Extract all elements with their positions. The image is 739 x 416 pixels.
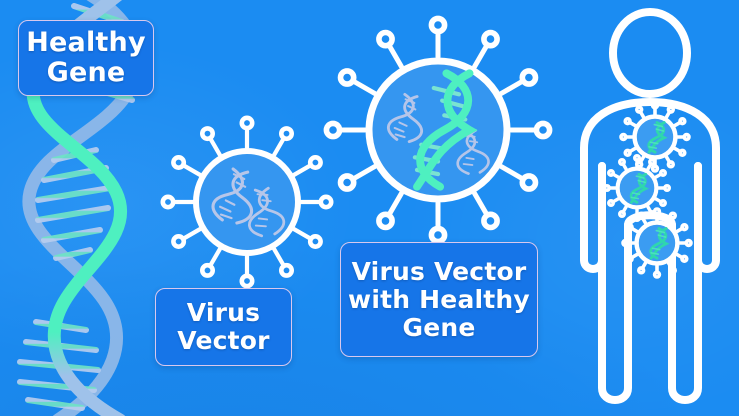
callout-virus-vector-with-healthy-gene: Virus Vector with Healthy Gene bbox=[340, 242, 538, 357]
virus-vector-particle bbox=[163, 118, 331, 286]
callout-virus-vector-line-1: Virus bbox=[177, 299, 269, 327]
human-body-figure bbox=[584, 12, 716, 400]
virus-vector-with-healthy-gene-particle bbox=[326, 18, 549, 241]
callout-virus-vector: Virus Vector bbox=[155, 288, 292, 366]
callout-vvhg-line-1: Virus Vector bbox=[348, 258, 530, 286]
callout-vvhg-line-2: with Healthy bbox=[348, 286, 530, 314]
callout-healthy-gene: Healthy Gene bbox=[18, 20, 154, 96]
human-head bbox=[613, 12, 687, 94]
human-leg-right bbox=[672, 166, 698, 400]
callout-healthy-gene-line-2: Gene bbox=[26, 58, 146, 88]
illustration-canvas: Healthy Gene Virus Vector Virus Vector w… bbox=[0, 0, 739, 416]
callout-healthy-gene-line-1: Healthy bbox=[26, 28, 146, 58]
callout-vvhg-line-3: Gene bbox=[348, 314, 530, 342]
callout-virus-vector-line-2: Vector bbox=[177, 327, 269, 355]
